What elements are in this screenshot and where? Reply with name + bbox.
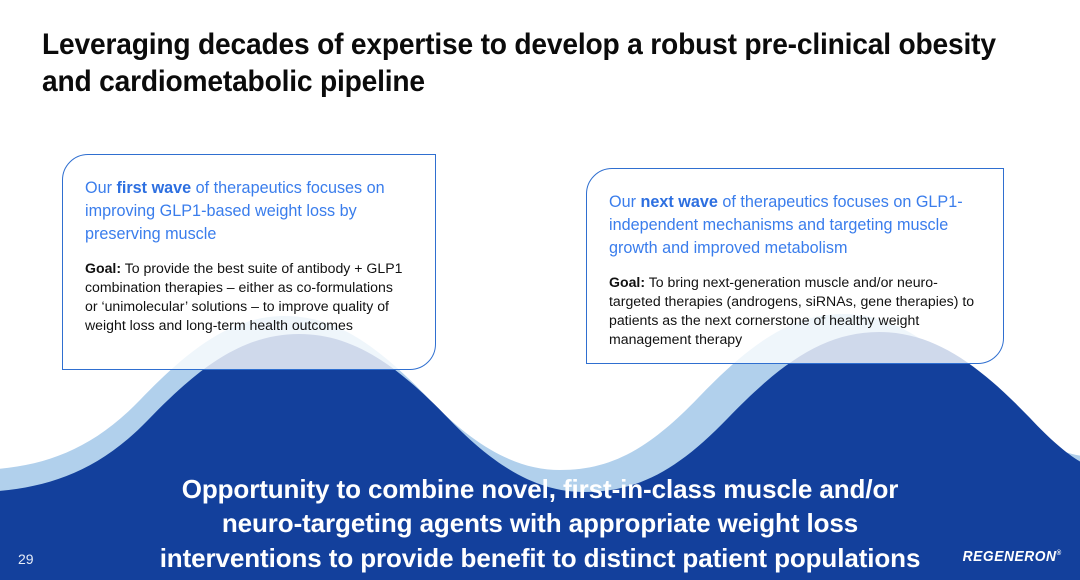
- card-first-wave: Our first wave of therapeutics focuses o…: [62, 154, 436, 370]
- banner-line-2: neuro-targeting agents with appropriate …: [0, 506, 1080, 540]
- card-next-wave-goal-label: Goal:: [609, 274, 645, 290]
- banner-line-1: Opportunity to combine novel, first-in-c…: [0, 472, 1080, 506]
- card-first-wave-goal-text: To provide the best suite of antibody + …: [85, 260, 402, 333]
- card-next-wave-heading-prefix: Our: [609, 193, 640, 211]
- card-next-wave-goal: Goal: To bring next-generation muscle an…: [609, 273, 977, 349]
- banner-line-3: interventions to provide benefit to dist…: [0, 541, 1080, 575]
- regeneron-logo: REGENERON®: [963, 548, 1062, 565]
- slide-canvas: Leveraging decades of expertise to devel…: [0, 0, 1080, 580]
- slide-title: Leveraging decades of expertise to devel…: [42, 26, 997, 101]
- card-first-wave-heading: Our first wave of therapeutics focuses o…: [85, 177, 409, 246]
- card-next-wave-goal-text: To bring next-generation muscle and/or n…: [609, 274, 974, 347]
- registered-trademark-icon: ®: [1057, 550, 1062, 557]
- card-next-wave: Our next wave of therapeutics focuses on…: [586, 168, 1004, 364]
- card-next-wave-heading: Our next wave of therapeutics focuses on…: [609, 191, 977, 260]
- card-next-wave-heading-emphasis: next wave: [640, 193, 717, 211]
- card-first-wave-heading-emphasis: first wave: [116, 179, 191, 197]
- page-number: 29: [18, 551, 34, 567]
- card-first-wave-goal: Goal: To provide the best suite of antib…: [85, 259, 409, 335]
- card-first-wave-goal-label: Goal:: [85, 260, 121, 276]
- card-first-wave-heading-prefix: Our: [85, 179, 116, 197]
- regeneron-logo-text: REGENERON: [963, 548, 1057, 565]
- banner-statement: Opportunity to combine novel, first-in-c…: [0, 472, 1080, 575]
